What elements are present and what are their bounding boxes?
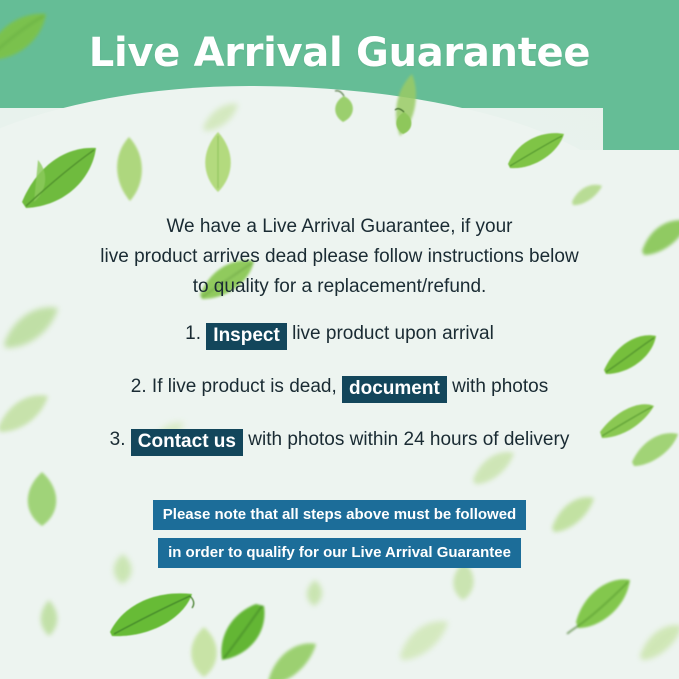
- step-3-number: 3.: [110, 429, 126, 450]
- step-3-highlight: Contact us: [131, 429, 243, 456]
- note-row-2: in order to qualify for our Live Arrival…: [0, 538, 679, 568]
- live-arrival-guarantee-poster: Live Arrival Guarantee We have a Live Ar…: [0, 0, 679, 679]
- step-3-after: with photos within 24 hours of delivery: [248, 429, 569, 450]
- step-2-after: with photos: [452, 376, 548, 397]
- note-row-1: Please note that all steps above must be…: [0, 500, 679, 530]
- step-2-highlight: document: [342, 376, 447, 403]
- page-title: Live Arrival Guarantee: [0, 30, 679, 76]
- step-item-3: 3. Contact us with photos within 24 hour…: [0, 426, 679, 454]
- step-1-after: live product upon arrival: [292, 323, 494, 344]
- step-2-number: 2.: [131, 376, 147, 397]
- step-1-highlight: Inspect: [206, 323, 287, 350]
- step-item-2: 2. If live product is dead, document wit…: [0, 373, 679, 401]
- poster-content: Live Arrival Guarantee We have a Live Ar…: [0, 0, 679, 679]
- intro-line-2: live product arrives dead please follow …: [0, 242, 679, 272]
- step-item-1: 1. Inspect live product upon arrival: [0, 320, 679, 348]
- footer-notes: Please note that all steps above must be…: [0, 500, 679, 576]
- steps-list: 1. Inspect live product upon arrival 2. …: [0, 320, 679, 479]
- step-2-before: If live product is dead,: [152, 376, 337, 397]
- intro-paragraph: We have a Live Arrival Guarantee, if you…: [0, 212, 679, 302]
- note-bar-2: in order to qualify for our Live Arrival…: [158, 538, 521, 568]
- intro-line-3: to quality for a replacement/refund.: [0, 272, 679, 302]
- step-1-number: 1.: [185, 323, 201, 344]
- note-bar-1: Please note that all steps above must be…: [153, 500, 526, 530]
- intro-line-1: We have a Live Arrival Guarantee, if you…: [0, 212, 679, 242]
